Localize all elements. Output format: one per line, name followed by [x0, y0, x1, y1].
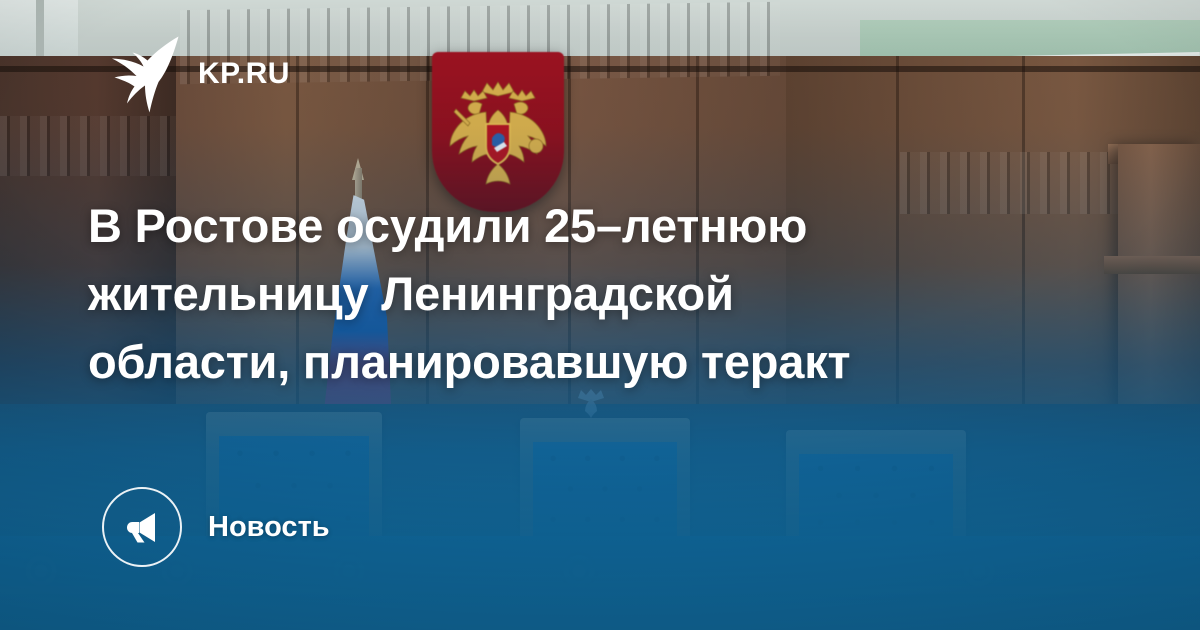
brand-logo[interactable]: KP.RU [104, 34, 290, 114]
swallow-bird-icon [104, 34, 180, 114]
badge-label: Новость [208, 513, 330, 542]
news-share-card: KP.RU В Ростове осудили 25–летнюю житель… [0, 0, 1200, 630]
news-badge[interactable]: Новость [102, 487, 330, 567]
badge-circle [102, 487, 182, 567]
megaphone-icon [122, 507, 162, 547]
logo-text: KP.RU [198, 59, 290, 89]
headline: В Ростове осудили 25–летнюю жительницу Л… [88, 192, 1048, 396]
